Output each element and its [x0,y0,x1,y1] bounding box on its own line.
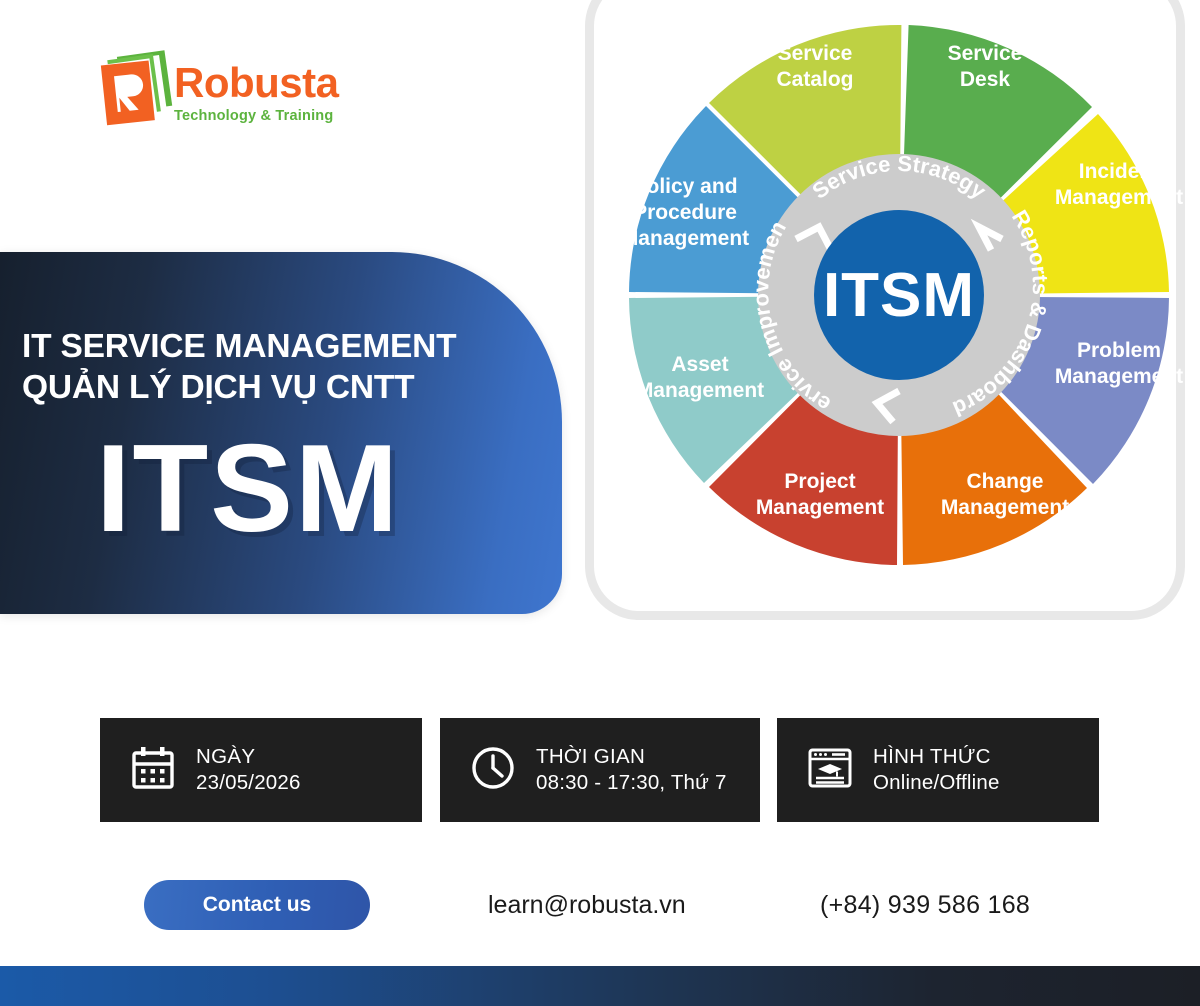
logo-mark-icon [96,48,184,136]
contact-phone[interactable]: (+84) 939 586 168 [820,891,1030,920]
info-value: 23/05/2026 [196,770,301,796]
info-card-time: THỜI GIAN 08:30 - 17:30, Thứ 7 [440,718,760,822]
info-label: THỜI GIAN [536,744,727,770]
acronym-itsm: ITSM [96,427,400,551]
wheel-label-service-desk-2: Desk [960,68,1011,91]
wheel-label-service-catalog-2: Catalog [776,68,853,91]
wheel-center-label: ITSM [823,261,975,330]
wheel-label-policy-procedure: Policy and [632,175,737,198]
wheel-label-service-desk: Service [948,42,1023,65]
wheel-label-problem-management-2: Management [1055,365,1183,388]
wheel-label-problem-management: Problem [1077,339,1161,362]
wheel-label-policy-procedure-3: Management [621,227,749,250]
info-label: NGÀY [196,744,301,770]
wheel-label-asset-management: Asset [671,353,728,376]
info-card-format: HÌNH THỨC Online/Offline [777,718,1099,822]
contact-email[interactable]: learn@robusta.vn [488,891,686,920]
title-vietnamese: QUẢN LÝ DỊCH VỤ CNTT [22,369,414,407]
wheel-label-service-catalog: Service [778,42,853,65]
wheel-label-change-management-2: Management [941,496,1069,519]
contact-us-button[interactable]: Contact us [144,880,370,930]
wheel-label-project-management-2: Management [756,496,884,519]
wheel-label-incident-management: Incident [1079,160,1160,183]
info-card-date: NGÀY 23/05/2026 [100,718,422,822]
brand-tagline: Technology & Training [174,108,339,124]
elearning-icon [807,745,853,796]
info-value: Online/Offline [873,770,1000,796]
title-banner: IT SERVICE MANAGEMENT QUẢN LÝ DỊCH VỤ CN… [0,252,562,614]
wheel-label-asset-management-2: Management [636,379,764,402]
calendar-icon [130,745,176,796]
footer-bar [0,966,1200,1006]
wheel-label-project-management: Project [784,470,855,493]
clock-icon [470,745,516,796]
itsm-wheel-diagram: ITSM Service Strategy Reports & Dashboar… [592,0,1200,630]
brand-logo: Robusta Technology & Training [96,48,396,140]
info-value: 08:30 - 17:30, Thứ 7 [536,770,727,796]
wheel-label-incident-management-2: Management [1055,186,1183,209]
title-english: IT SERVICE MANAGEMENT [22,328,456,366]
info-label: HÌNH THỨC [873,744,1000,770]
brand-name: Robusta [174,62,339,104]
wheel-label-policy-procedure-2: Procedure [633,201,737,224]
wheel-label-change-management: Change [966,470,1043,493]
